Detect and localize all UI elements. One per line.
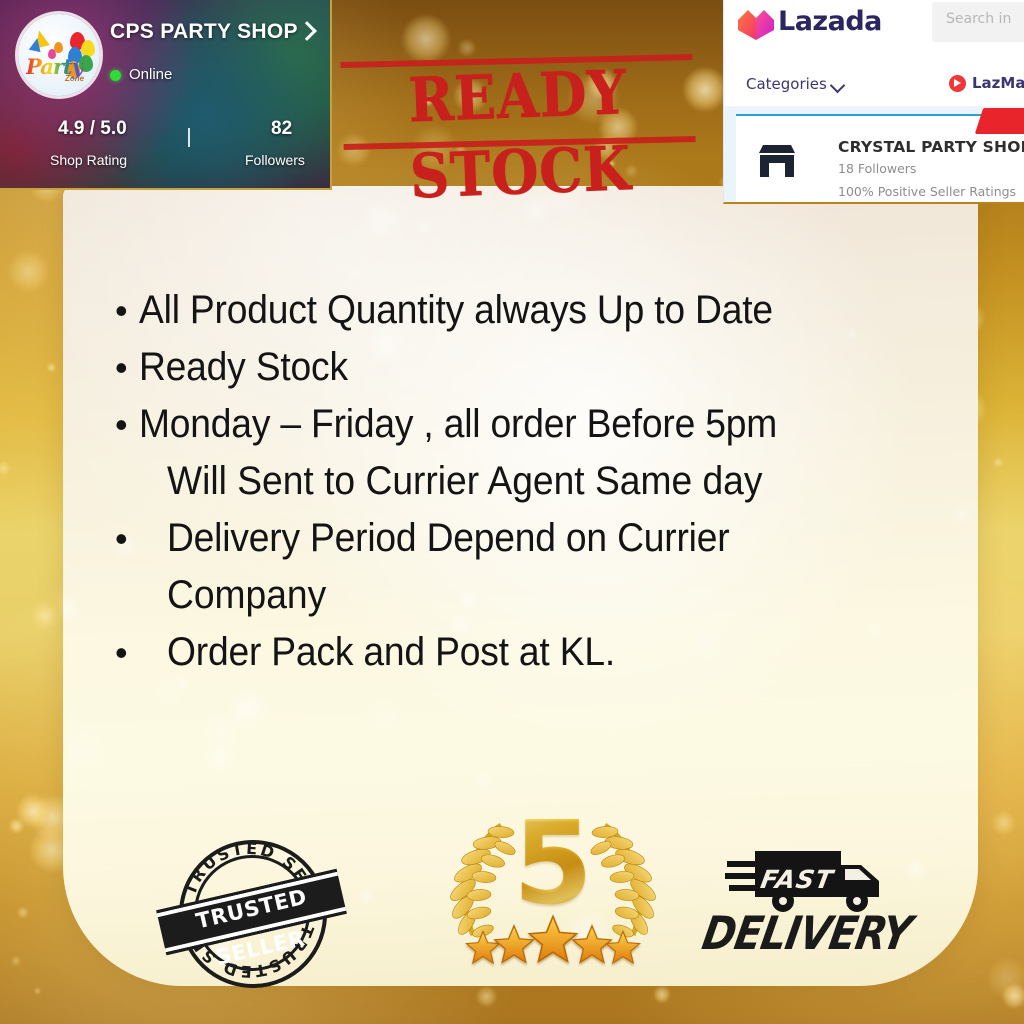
- shop-name: CPS PARTY SHOP: [110, 20, 298, 44]
- store-name: CRYSTAL PARTY SHOP: [838, 138, 1024, 156]
- store-positive-ratings: 100% Positive Seller Ratings: [838, 184, 1016, 199]
- info-bullet-list: • All Product Quantity always Up to Date…: [115, 282, 925, 681]
- online-status-dot: [110, 70, 121, 81]
- stamp-text: READY STOCK: [336, 51, 702, 217]
- store-followers: 18 Followers: [838, 161, 916, 176]
- card-sparkle: [63, 593, 82, 625]
- list-item: • Order Pack and Post at KL.: [115, 624, 925, 681]
- lazmall-label: LazMall: [972, 74, 1024, 92]
- lazmall-link[interactable]: LazMall: [949, 74, 1024, 92]
- list-item-text: Order Pack and Post at KL.: [167, 624, 615, 681]
- online-status-label: Online: [129, 66, 172, 83]
- list-item-continuation: Company: [167, 567, 925, 624]
- followers-value: 82: [271, 118, 292, 140]
- trusted-seller-stamp-icon: TRUSTED SELLER TRUSTED SELLER TRUSTED SE…: [163, 835, 338, 985]
- bullet-marker: •: [115, 282, 139, 339]
- card-sparkle: [63, 726, 109, 773]
- bullet-marker: •: [115, 339, 139, 396]
- list-item-text: All Product Quantity always Up to Date: [139, 282, 773, 339]
- fast-label: FAST: [758, 865, 835, 894]
- list-item: • Delivery Period Depend on Currier: [115, 510, 925, 567]
- list-item-continuation: Will Sent to Currier Agent Same day: [167, 453, 925, 510]
- lazada-heart-icon: [736, 8, 770, 38]
- card-sparkle: [63, 561, 70, 572]
- shop-rating-value: 4.9 / 5.0: [58, 118, 127, 140]
- followers-label: Followers: [245, 152, 305, 168]
- lazmall-badge-icon: [949, 75, 966, 92]
- star-rating: [463, 913, 643, 967]
- list-item-continuation-text: Will Sent to Currier Agent Same day: [167, 453, 762, 510]
- card-sparkle: [364, 695, 405, 736]
- card-sparkle: [228, 689, 269, 730]
- bullet-marker: •: [115, 510, 167, 567]
- ready-stock-stamp: READY STOCK: [336, 45, 700, 159]
- chevron-right-icon[interactable]: [297, 21, 317, 41]
- shop-rating-label: Shop Rating: [50, 152, 127, 168]
- card-sparkle: [952, 504, 973, 525]
- store-ribbon-icon: [975, 108, 1024, 134]
- lazada-shop-panel[interactable]: Lazada Search in Categories LazMall CRYS…: [723, 0, 1024, 204]
- list-item-text: Delivery Period Depend on Currier: [167, 510, 729, 567]
- lazada-brand-text: Lazada: [778, 6, 882, 37]
- five-star-laurel-icon: 5: [443, 805, 663, 985]
- stat-divider: [188, 128, 190, 147]
- badge-row: TRUSTED SELLER TRUSTED SELLER TRUSTED SE…: [63, 795, 978, 995]
- card-sparkle: [416, 216, 434, 234]
- five-number: 5: [505, 807, 601, 922]
- list-item: • Ready Stock: [115, 339, 925, 396]
- card-sparkle: [346, 264, 365, 283]
- bullet-marker: •: [115, 396, 139, 453]
- shopee-shop-panel[interactable]: Party Zone CPS PARTY SHOP Online 4.9 / 5…: [0, 0, 332, 190]
- avatar: Party Zone: [18, 14, 100, 96]
- list-item: • All Product Quantity always Up to Date: [115, 282, 925, 339]
- fast-delivery-truck-icon: FAST DELIVERY: [703, 843, 898, 968]
- storefront-icon: [756, 143, 798, 179]
- categories-menu[interactable]: Categories: [746, 75, 827, 93]
- search-placeholder: Search in: [946, 11, 1011, 27]
- list-item-text: Monday – Friday , all order Before 5pm: [139, 396, 777, 453]
- list-item: • Monday – Friday , all order Before 5pm: [115, 396, 925, 453]
- star-icon: [604, 929, 642, 967]
- list-item-continuation-text: Company: [167, 567, 326, 624]
- bullet-marker: •: [115, 624, 167, 681]
- delivery-label: DELIVERY: [698, 908, 902, 961]
- list-item-text: Ready Stock: [139, 339, 348, 396]
- avatar-zone-text: Zone: [65, 74, 84, 83]
- card-sparkle: [473, 770, 496, 793]
- party-hat-icon-2: [29, 37, 43, 52]
